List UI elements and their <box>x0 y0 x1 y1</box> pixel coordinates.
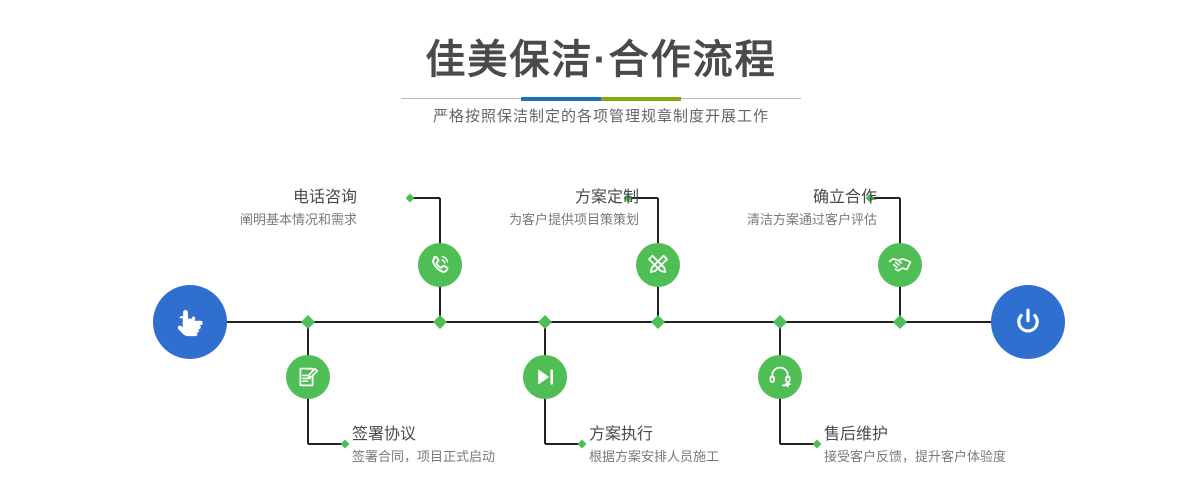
timeline-marker-1 <box>433 315 447 329</box>
flow-label-4-title: 方案执行 <box>589 425 719 445</box>
flow-label-4-desc: 根据方案安排人员施工 <box>589 448 719 466</box>
flow-label-3-desc: 为客户提供项目策策划 <box>509 211 639 229</box>
flow-node-4[interactable] <box>523 355 567 399</box>
pencil-plan-icon <box>645 252 671 278</box>
process-flow-diagram: 电话咨询 阐明基本情况和需求 签署协议 签署合同，项目正式启动 方案定制 为客户… <box>0 0 1202 502</box>
flow-label-4: 方案执行 根据方案安排人员施工 <box>589 425 719 466</box>
flow-node-1[interactable] <box>418 243 462 287</box>
power-button-icon <box>1008 302 1048 342</box>
play-execute-icon <box>532 364 558 390</box>
flow-label-1-desc: 阐明基本情况和需求 <box>240 211 357 229</box>
label-marker-1 <box>406 194 415 203</box>
flow-label-1: 电话咨询 阐明基本情况和需求 <box>240 188 357 229</box>
flow-node-5[interactable] <box>878 243 922 287</box>
label-marker-2 <box>341 440 350 449</box>
flow-label-3-title: 方案定制 <box>509 188 639 208</box>
handshake-icon <box>887 252 913 278</box>
flow-label-5-title: 确立合作 <box>747 188 877 208</box>
flow-label-1-title: 电话咨询 <box>240 188 357 208</box>
flow-label-5: 确立合作 清洁方案通过客户评估 <box>747 188 877 229</box>
flow-node-3[interactable] <box>636 243 680 287</box>
timeline-marker-5 <box>893 315 907 329</box>
flow-label-2-title: 签署协议 <box>352 425 495 445</box>
timeline-marker-6 <box>773 315 787 329</box>
flow-label-6-desc: 接受客户反馈，提升客户体验度 <box>824 448 1006 466</box>
customer-service-icon <box>767 364 793 390</box>
flow-start-node[interactable] <box>153 285 227 359</box>
flow-node-2[interactable] <box>286 355 330 399</box>
flow-end-node[interactable] <box>991 285 1065 359</box>
timeline-marker-2 <box>301 315 315 329</box>
timeline-marker-3 <box>651 315 665 329</box>
label-marker-4 <box>578 440 587 449</box>
label-marker-6 <box>813 440 822 449</box>
flow-label-6-title: 售后维护 <box>824 425 1006 445</box>
flow-label-3: 方案定制 为客户提供项目策策划 <box>509 188 639 229</box>
timeline-marker-4 <box>538 315 552 329</box>
pointing-hand-icon <box>170 302 210 342</box>
flow-label-6: 售后维护 接受客户反馈，提升客户体验度 <box>824 425 1006 466</box>
flow-node-6[interactable] <box>758 355 802 399</box>
phone-call-icon <box>427 252 453 278</box>
flow-label-2-desc: 签署合同，项目正式启动 <box>352 448 495 466</box>
flow-label-2: 签署协议 签署合同，项目正式启动 <box>352 425 495 466</box>
document-edit-icon <box>295 364 321 390</box>
flow-label-5-desc: 清洁方案通过客户评估 <box>747 211 877 229</box>
